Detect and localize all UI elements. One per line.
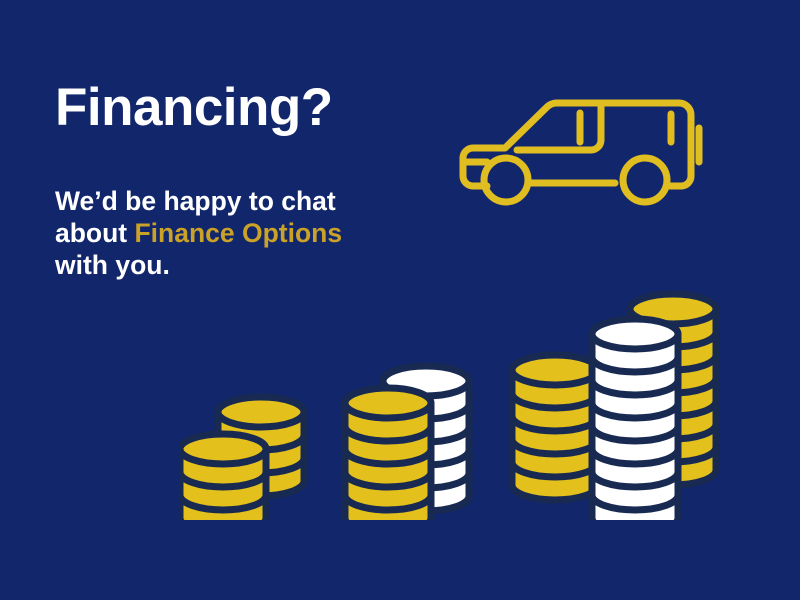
small-coin-stack	[180, 397, 304, 520]
subtitle-line-1: We’d be happy to chat	[55, 185, 385, 217]
car-suv-icon	[443, 80, 723, 215]
small-stack-front	[180, 434, 266, 520]
large-stack-middle	[592, 319, 678, 520]
car-front-wheel-icon	[484, 158, 528, 202]
coin-stacks-illustration	[180, 265, 725, 520]
medium-stack-front	[345, 388, 431, 520]
finance-options-link[interactable]: Finance Options	[135, 218, 343, 248]
car-rear-wheel-icon	[623, 158, 667, 202]
subtitle-line-2: about Finance Options	[55, 217, 385, 249]
financing-promo-slide: Financing? We’d be happy to chat about F…	[0, 0, 800, 600]
subtitle-line-2-prefix: about	[55, 218, 135, 248]
large-coin-stack	[512, 294, 716, 520]
medium-coin-stack	[345, 366, 469, 520]
page-title: Financing?	[55, 80, 455, 136]
large-stack-front-left	[512, 355, 598, 500]
